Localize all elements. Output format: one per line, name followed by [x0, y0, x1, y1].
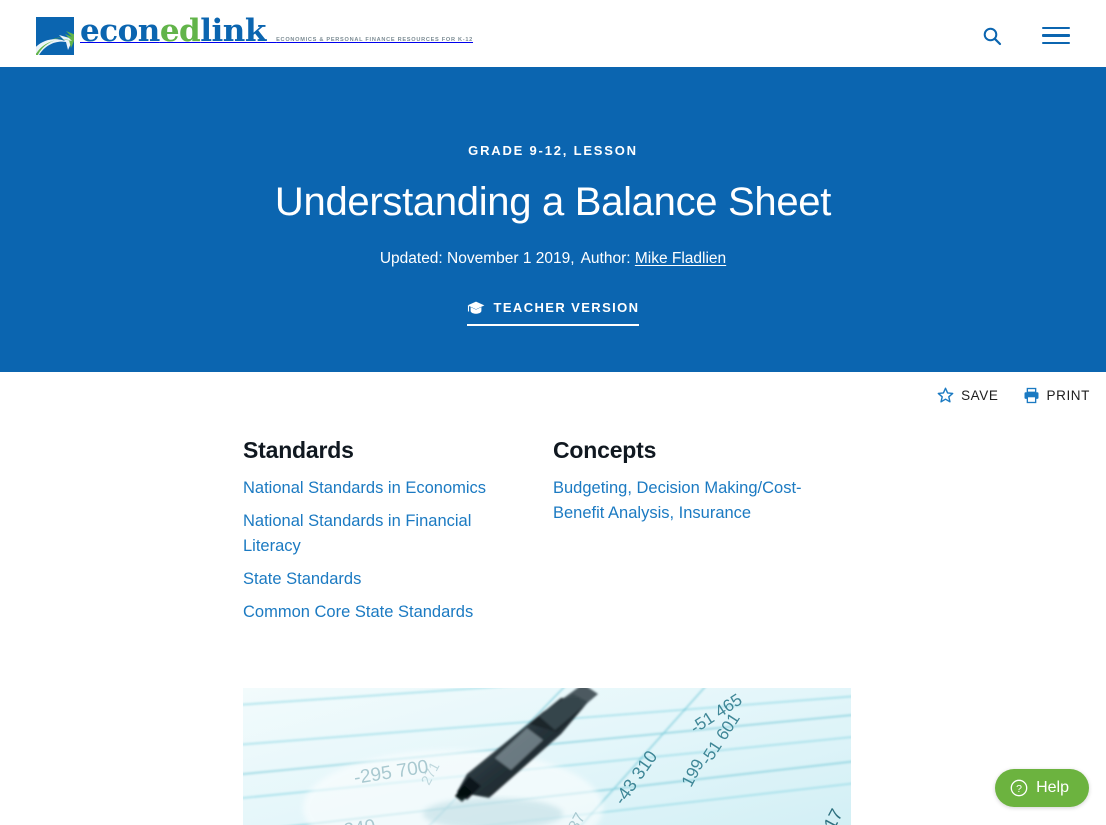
teacher-version-label: TEACHER VERSION: [494, 300, 640, 315]
star-icon: [937, 387, 954, 404]
save-label: SAVE: [961, 388, 998, 403]
standards-list: National Standards in Economics National…: [243, 476, 533, 625]
hamburger-bar: [1042, 27, 1070, 30]
site-logo[interactable]: econedlink ECONOMICS & PERSONAL FINANCE …: [36, 17, 473, 57]
teacher-version-link[interactable]: TEACHER VERSION: [467, 300, 640, 326]
list-item: National Standards in Economics: [243, 476, 533, 501]
logo-mark-icon: [36, 17, 74, 55]
concepts-link[interactable]: Budgeting, Decision Making/Cost-Benefit …: [553, 479, 802, 522]
standards-link-national-economics[interactable]: National Standards in Economics: [243, 479, 486, 497]
lesson-meta: Updated: November 1 2019,Author: Mike Fl…: [0, 250, 1106, 268]
save-button[interactable]: SAVE: [937, 387, 998, 404]
concepts-heading: Concepts: [553, 437, 843, 464]
logo-word-link: link: [200, 13, 266, 49]
question-mark-circle-icon: ?: [1010, 779, 1028, 797]
logo-tagline: ECONOMICS & PERSONAL FINANCE RESOURCES F…: [276, 37, 473, 43]
updated-date: Updated: November 1 2019,: [380, 250, 575, 267]
concepts-section: Concepts Budgeting, Decision Making/Cost…: [553, 437, 863, 633]
list-item: State Standards: [243, 567, 533, 592]
concepts-list: Budgeting, Decision Making/Cost-Benefit …: [553, 476, 843, 526]
graduation-cap-icon: [467, 301, 485, 315]
balance-sheet-photo: -295 700 -2 240 271 237 -43 310 199 -51 …: [243, 688, 851, 825]
hamburger-bar: [1042, 42, 1070, 45]
author-link[interactable]: Mike Fladlien: [635, 250, 726, 267]
logo-word-ed: ed: [160, 13, 200, 49]
lesson-grade-eyebrow: GRADE 9-12, LESSON: [0, 143, 1106, 158]
standards-heading: Standards: [243, 437, 533, 464]
lesson-action-bar: SAVE PRINT: [0, 372, 1106, 404]
print-button[interactable]: PRINT: [1023, 387, 1091, 404]
logo-text: econedlink ECONOMICS & PERSONAL FINANCE …: [80, 17, 473, 46]
author-label: Author:: [581, 250, 631, 267]
print-label: PRINT: [1047, 388, 1091, 403]
search-button[interactable]: [982, 26, 1002, 46]
header-actions: [982, 0, 1070, 71]
site-header: econedlink ECONOMICS & PERSONAL FINANCE …: [0, 0, 1106, 71]
lesson-content: Standards National Standards in Economic…: [243, 404, 863, 825]
printer-icon: [1023, 387, 1040, 404]
help-button[interactable]: ? Help: [995, 769, 1089, 807]
standards-link-state[interactable]: State Standards: [243, 570, 361, 588]
logo-swoosh-icon: [36, 29, 74, 55]
help-label: Help: [1036, 779, 1069, 797]
list-item: National Standards in Financial Literacy: [243, 509, 533, 559]
lesson-meta-columns: Standards National Standards in Economic…: [243, 437, 863, 633]
menu-button[interactable]: [1042, 22, 1070, 50]
list-item: Common Core State Standards: [243, 600, 533, 625]
hamburger-bar: [1042, 34, 1070, 37]
standards-link-national-financial-literacy[interactable]: National Standards in Financial Literacy: [243, 512, 471, 555]
lesson-hero-image: -295 700 -2 240 271 237 -43 310 199 -51 …: [243, 688, 851, 825]
page-title: Understanding a Balance Sheet: [0, 180, 1106, 224]
search-icon: [982, 26, 1002, 46]
standards-link-common-core[interactable]: Common Core State Standards: [243, 603, 473, 621]
lesson-hero: GRADE 9-12, LESSON Understanding a Balan…: [0, 71, 1106, 372]
standards-section: Standards National Standards in Economic…: [243, 437, 553, 633]
logo-word-econ: econ: [80, 13, 160, 49]
svg-text:?: ?: [1016, 783, 1022, 795]
